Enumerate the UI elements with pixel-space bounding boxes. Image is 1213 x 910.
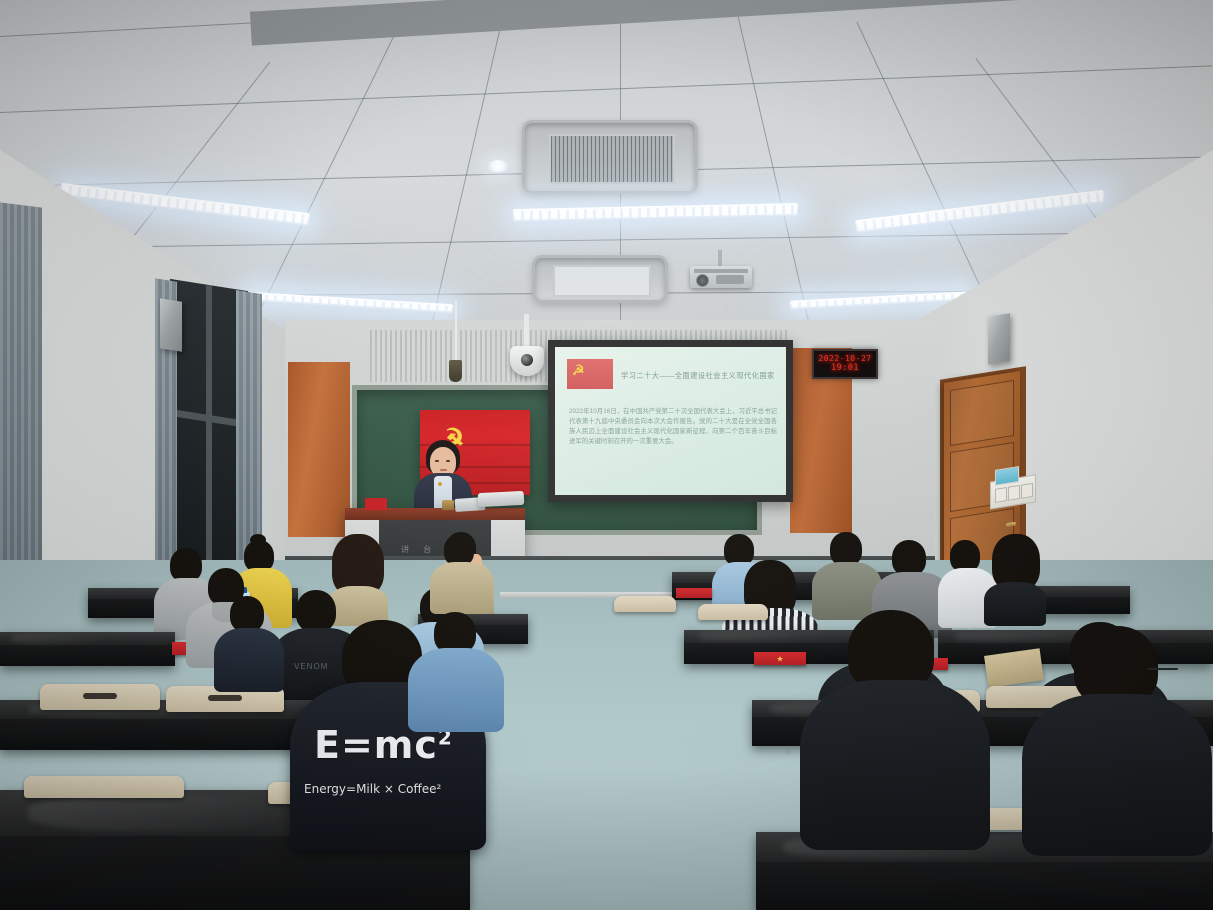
chair[interactable] (614, 596, 676, 612)
wall-speaker (160, 298, 182, 351)
presenter-badge (438, 482, 442, 486)
ceiling-downlight (487, 160, 509, 172)
slide-surface: ☭ 学习二十大——全面建设社会主义现代化国家 2022年10月16日，在中国共产… (555, 347, 786, 495)
projection-screen: ☭ 学习二十大——全面建设社会主义现代化国家 2022年10月16日，在中国共产… (548, 340, 793, 502)
head (892, 540, 926, 576)
torso (408, 648, 504, 732)
microphone-wire (455, 300, 457, 362)
dome-security-camera (510, 346, 544, 376)
open-book[interactable] (478, 491, 525, 507)
wood-wall-panel (288, 362, 350, 537)
torso (214, 628, 284, 692)
audience-member (1022, 626, 1212, 856)
led-clock-display: 2022-10-27 19:01 (812, 349, 878, 379)
ac-vent (522, 120, 698, 194)
slide-title: 学习二十大——全面建设社会主义现代化国家 (621, 371, 779, 381)
desk (0, 632, 175, 666)
audience-member (214, 596, 284, 692)
ceiling-light (855, 190, 1105, 233)
torso (800, 680, 990, 850)
shirt-subtext: Energy=Milk × Coffee² (304, 782, 441, 796)
hair-bun (250, 534, 266, 546)
red-booklet[interactable] (365, 498, 387, 510)
switch-key[interactable] (995, 487, 1007, 503)
torso (984, 582, 1046, 626)
audience-member (800, 610, 990, 850)
eyeglasses-icon (1148, 668, 1178, 670)
door-handle[interactable] (1006, 522, 1016, 528)
head (230, 596, 264, 632)
panel-display (995, 466, 1019, 486)
slide-hammer-sickle-icon: ☭ (572, 363, 585, 377)
audience-member (430, 534, 492, 614)
audience-member (408, 612, 504, 732)
desk-microphone[interactable] (442, 500, 454, 510)
red-booklet[interactable]: ★ (754, 652, 806, 665)
chair[interactable] (24, 776, 184, 798)
slide-flag-image: ☭ (567, 359, 613, 389)
audience-member (982, 534, 1048, 626)
wall-speaker (988, 313, 1010, 364)
slide-body-text: 2022年10月16日，在中国共产党第二十次全国代表大会上，习近平总书记代表第十… (569, 407, 777, 447)
torso (430, 562, 492, 614)
red-booklet[interactable] (676, 588, 712, 598)
booklet-emblem: ★ (776, 654, 783, 663)
chair[interactable] (698, 604, 768, 620)
classroom-photo: ☭ ☭ 学习二十大——全面建设社会主义现代化国家 2022年10月16日，在中国… (0, 0, 1213, 910)
projector (690, 266, 752, 288)
led-time: 19:01 (831, 364, 859, 373)
chair[interactable] (40, 684, 160, 710)
ceiling-light (513, 203, 798, 222)
hanging-microphone (449, 360, 462, 382)
torso (1022, 694, 1212, 856)
switch-key[interactable] (1021, 483, 1033, 499)
camera-mount (524, 314, 529, 348)
ac-vent (532, 255, 668, 303)
head (830, 532, 862, 566)
switch-key[interactable] (1008, 485, 1020, 501)
ceiling-beam (250, 0, 1213, 46)
